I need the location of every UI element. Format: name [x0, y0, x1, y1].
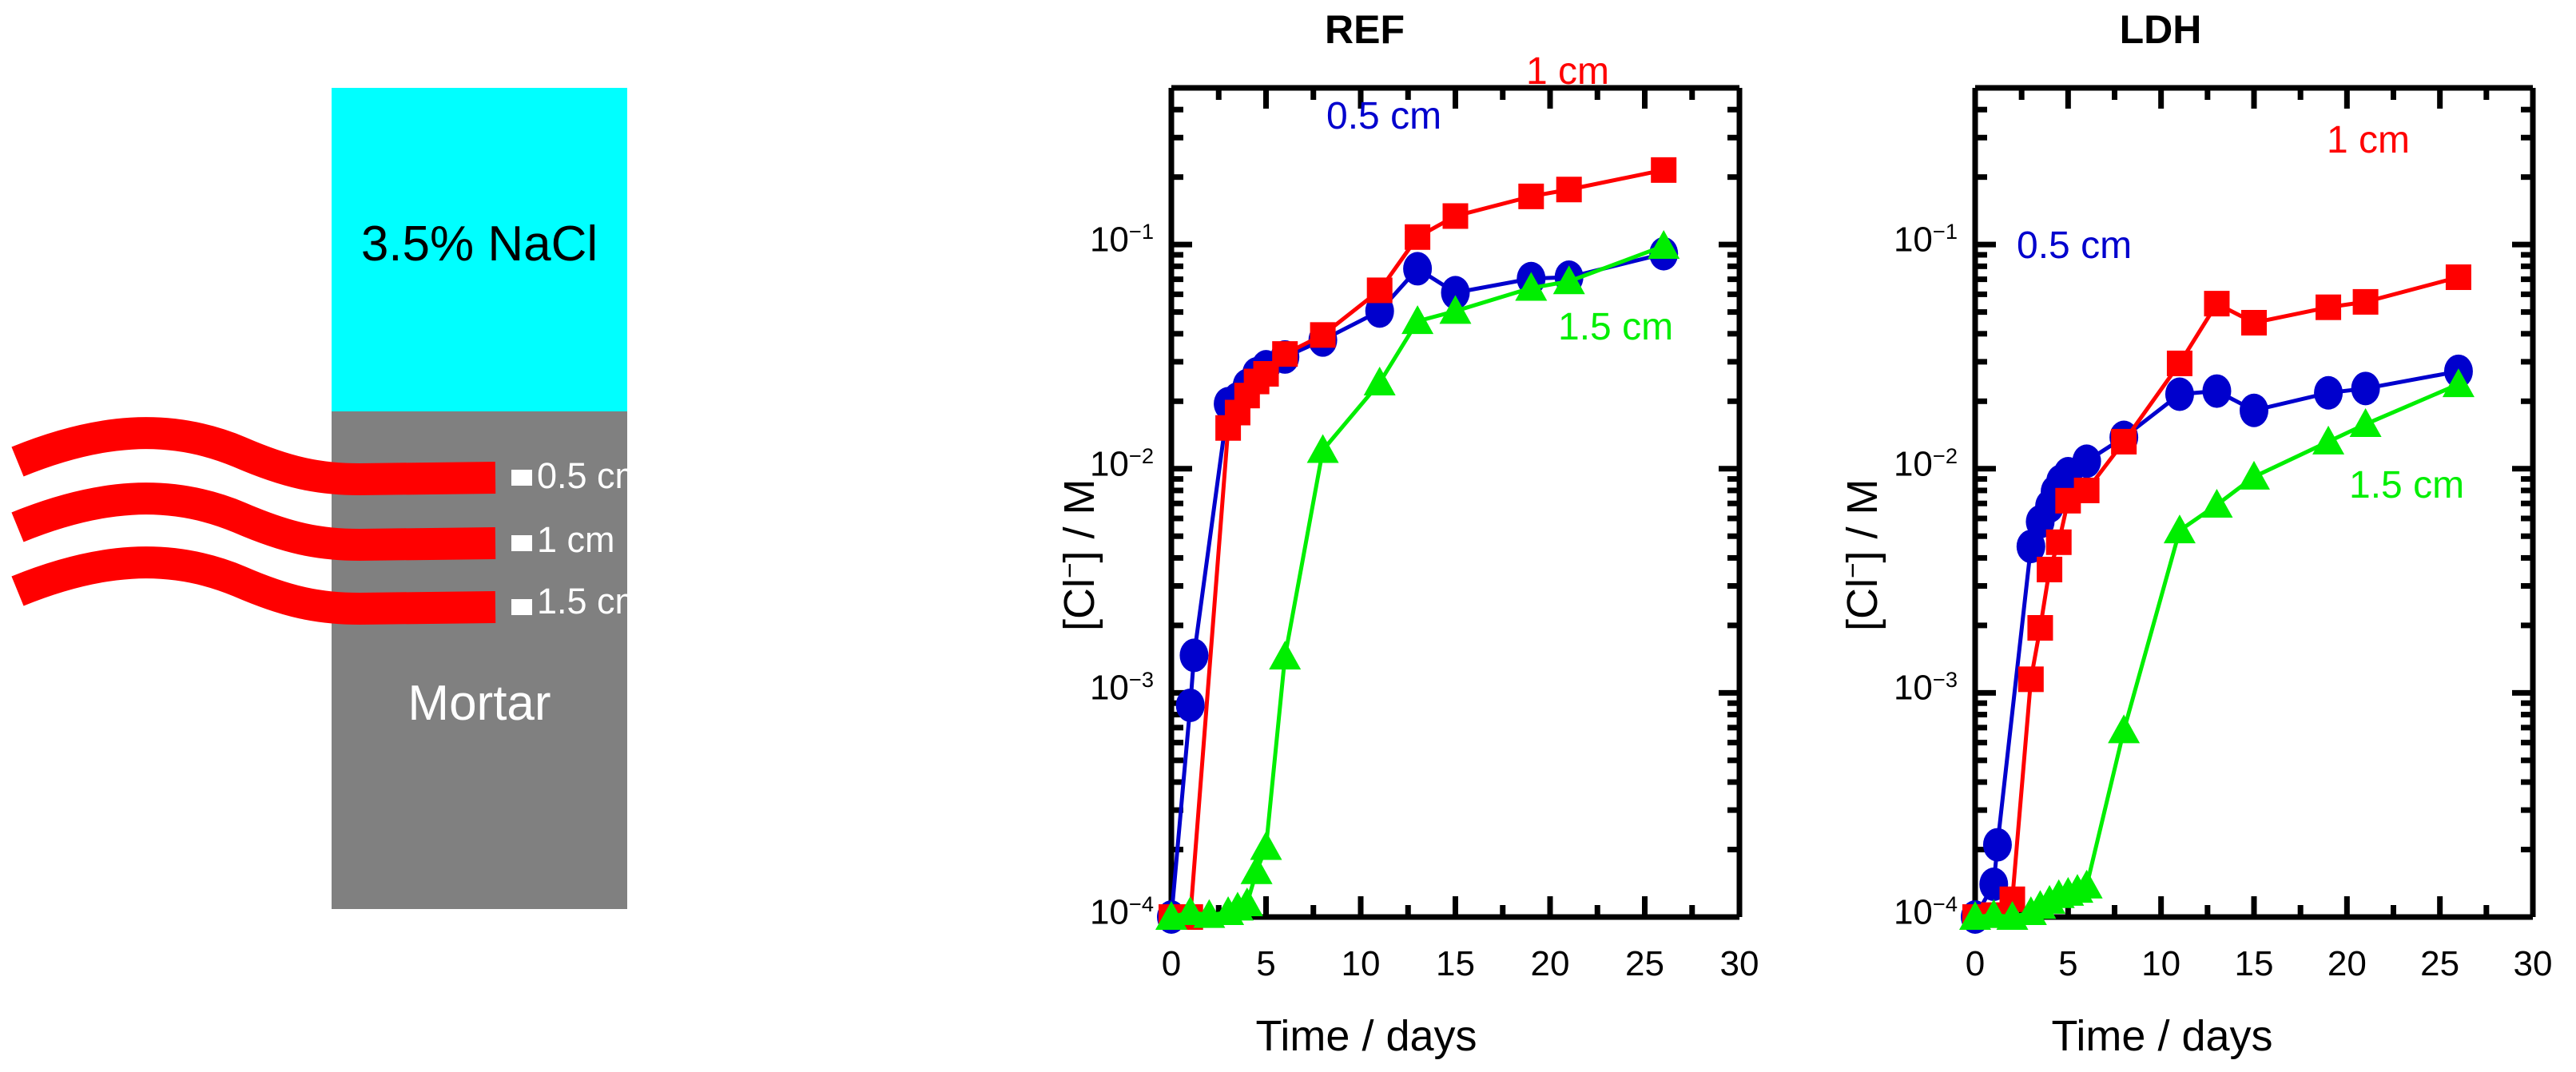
data-point	[2018, 666, 2044, 692]
x-tick-label: 15	[1416, 944, 1496, 984]
x-tick-label: 10	[2121, 944, 2201, 984]
series-annotation-blue: 0.5 cm	[1326, 94, 1441, 138]
electrode-tips	[511, 470, 532, 615]
data-point	[1364, 367, 1396, 395]
series-annotation-green: 1.5 cm	[2349, 463, 2464, 507]
electrodes-and-arrow	[0, 0, 1007, 1072]
data-point	[1179, 638, 1208, 672]
data-point	[1983, 828, 2012, 862]
series-1-cm	[1962, 264, 2471, 930]
y-tick-label: 10−2	[1830, 443, 1958, 485]
experiment-schematic: 3.5% NaCl Mortar 0.5 cm 1 cm 1.5 cm	[0, 0, 1007, 1072]
data-point	[2312, 426, 2344, 455]
series-annotation-blue: 0.5 cm	[2017, 224, 2132, 268]
chart-panel-ref: REF Time / days [Cl−] / M 05101520253010…	[1007, 0, 1790, 1072]
data-point	[1250, 832, 1282, 860]
y-tick-label: 10−3	[1026, 667, 1154, 709]
data-point	[2350, 408, 2382, 437]
data-point	[1405, 224, 1430, 250]
data-point	[1269, 641, 1301, 669]
data-point	[2165, 377, 2194, 411]
data-point	[2200, 489, 2232, 518]
y-axis-title-ldh: [Cl−] / M	[1838, 478, 1887, 631]
data-point	[2314, 376, 2343, 410]
diffusion-arrow	[703, 447, 762, 655]
depth-label-1cm: 1 cm	[537, 519, 615, 561]
data-point	[2238, 461, 2270, 490]
x-tick-label: 10	[1321, 944, 1401, 984]
data-point	[2353, 289, 2379, 315]
nacl-solution-label: 3.5% NaCl	[332, 216, 627, 272]
x-tick-label: 0	[1935, 944, 2015, 984]
data-point	[1403, 252, 1432, 285]
x-tick-label: 15	[2214, 944, 2294, 984]
y-tick-label: 10−1	[1830, 219, 1958, 260]
data-point	[2073, 444, 2101, 478]
data-point	[2074, 478, 2100, 503]
series-annotation-red: 1 cm	[2327, 118, 2410, 162]
data-point	[2108, 714, 2140, 743]
electrode-wires	[18, 433, 495, 609]
data-point	[1518, 184, 1544, 209]
y-tick-label: 10−4	[1026, 891, 1154, 933]
data-point	[2167, 351, 2192, 376]
x-axis-title-ref: Time / days	[975, 1011, 1758, 1061]
x-tick-label: 20	[1510, 944, 1590, 984]
x-axis-title-ldh: Time / days	[1769, 1011, 2555, 1061]
data-point	[2027, 615, 2053, 641]
data-point	[2037, 557, 2062, 582]
x-tick-label: 0	[1131, 944, 1211, 984]
data-point	[1556, 177, 1582, 202]
depth-label-1.5cm: 1.5 cm	[537, 581, 645, 622]
data-point	[2046, 530, 2072, 555]
data-point	[2202, 375, 2231, 408]
data-point	[2204, 291, 2229, 316]
data-point	[2240, 394, 2268, 427]
x-tick-label: 5	[2028, 944, 2108, 984]
series-annotation-green: 1.5 cm	[1558, 305, 1673, 349]
data-point	[2241, 310, 2267, 335]
data-point	[2351, 371, 2380, 405]
depth-label-0.5cm: 0.5 cm	[537, 455, 645, 497]
x-tick-label: 25	[2400, 944, 2480, 984]
x-tick-label: 30	[2493, 944, 2573, 984]
y-tick-label: 10−2	[1026, 443, 1154, 485]
y-tick-label: 10−3	[1830, 667, 1958, 709]
x-tick-label: 25	[1605, 944, 1685, 984]
mortar-label: Mortar	[332, 675, 627, 732]
figure-root: 3.5% NaCl Mortar 0.5 cm 1 cm 1.5 cm REF …	[0, 0, 2576, 1072]
data-point	[1367, 277, 1393, 303]
data-point	[1651, 157, 1676, 183]
series-annotation-red: 1 cm	[1526, 50, 1609, 93]
data-point	[1272, 341, 1298, 367]
x-tick-label: 5	[1226, 944, 1306, 984]
y-tick-label: 10−1	[1026, 219, 1154, 260]
data-point	[2111, 429, 2137, 455]
data-point	[2316, 295, 2341, 320]
x-tick-label: 20	[2307, 944, 2387, 984]
data-point	[2164, 514, 2196, 543]
data-point	[1176, 689, 1205, 722]
data-point	[2446, 264, 2471, 290]
y-tick-label: 10−4	[1830, 891, 1958, 933]
chart-panel-ldh: LDH Time / days [Cl−] / M 05101520253010…	[1790, 0, 2576, 1072]
data-point	[1310, 322, 1336, 347]
y-axis-title-ref: [Cl−] / M	[1055, 478, 1104, 631]
x-tick-label: 30	[1699, 944, 1779, 984]
data-point	[1443, 203, 1469, 228]
